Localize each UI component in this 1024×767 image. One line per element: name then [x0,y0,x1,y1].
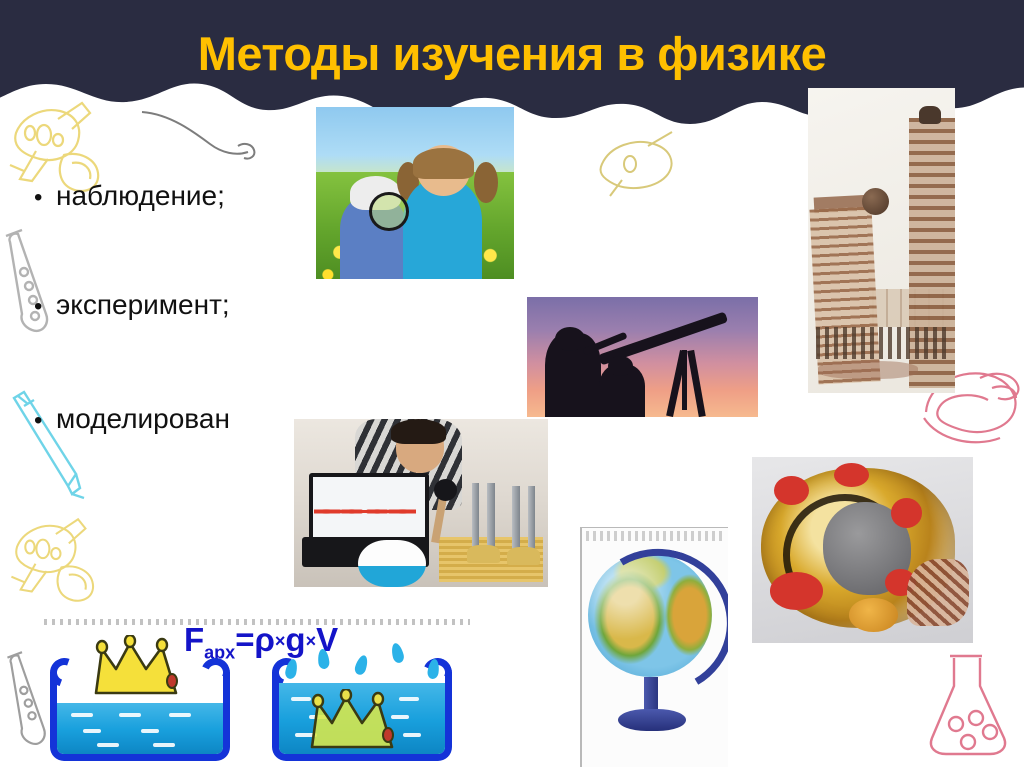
mallet-head [434,479,457,501]
photo-archimedes-buoyancy-diagram: Fapx=ρ×g×V [44,617,470,767]
endoplasmic-reticulum [907,559,969,626]
mitochondrion [770,572,823,609]
photo-animal-cell-model [752,457,973,643]
mitochondrion [891,498,922,528]
photo-globe-on-stand [580,527,728,767]
sound-sensor-device [358,540,427,587]
golden-crown-above-water [90,635,186,697]
falling-ball [862,188,889,215]
methods-bullet-list: • наблюдение; • эксперимент; • моделиров… [34,168,364,435]
sound-waveform-graph [314,503,416,520]
vacuole [849,598,898,631]
water-left [57,703,223,754]
galileo-figure [919,106,941,124]
golden-crown-submerged [306,689,402,751]
photo-student-laptop-tuning-forks [294,419,548,587]
magnifying-glass-icon [369,192,409,231]
flask-doodle-bottom-right [924,650,1016,758]
ground-shadow [818,361,918,379]
bullet-label-observation: наблюдение; [56,180,225,212]
formula-equals-rho: =ρ [235,621,275,658]
bullet-marker-icon: • [34,295,56,319]
bullet-marker-icon: • [34,186,56,210]
tuning-fork-base-left [467,545,500,563]
bullet-label-experiment: эксперимент; [56,289,230,321]
adult-head-silhouette [555,327,585,351]
crowd-of-observers [816,327,948,359]
globe-base [618,709,686,731]
buoyancy-formula: Fapx=ρ×g×V [184,621,338,664]
photo-telescope-sunset-silhouette [527,297,758,417]
tuning-fork-base-right [507,547,540,565]
bullet-marker-icon: • [34,409,56,433]
page-title: Методы изучения в физике [0,26,1024,81]
photo-pisa-tower-galileo-sketch [808,88,955,393]
airplane-doodle-bottom-left [4,510,104,610]
formula-force-symbol: F [184,621,204,658]
girl-hair [413,148,474,179]
student-hair [391,419,447,444]
list-item: • наблюдение; [34,180,364,212]
presentation-slide: Методы изучения в физике • наблюдение; •… [0,0,1024,767]
formula-multiply-1: × [275,631,286,651]
list-item: • эксперимент; [34,289,364,321]
photo-children-magnifying-glass-field [316,107,514,279]
bullet-label-modeling: моделирован [56,403,230,435]
mitochondrion [834,463,869,487]
formula-g: g [285,621,305,658]
formula-multiply-2: × [306,631,317,651]
globe-photo-top-text-band [586,531,722,541]
